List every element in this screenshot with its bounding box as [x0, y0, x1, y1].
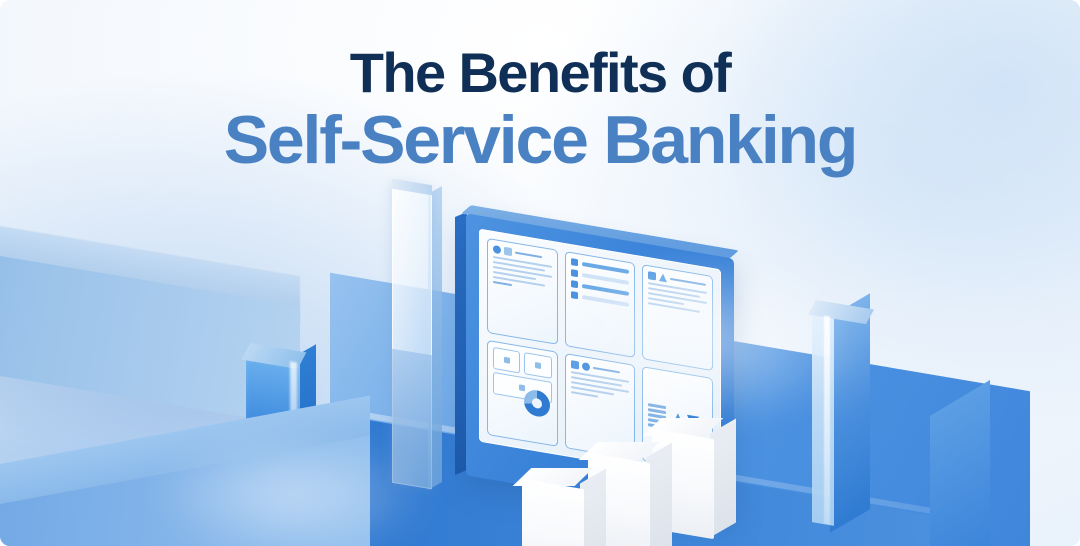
headline-line-2: Self-Service Banking: [0, 105, 1080, 176]
page-title: The Benefits of Self-Service Banking: [0, 44, 1080, 177]
headline-line-1: The Benefits of: [0, 44, 1080, 101]
badge-icon: [504, 247, 512, 256]
text-line: [493, 281, 512, 286]
user-icon: [493, 245, 501, 254]
scene-glow-left: [150, 430, 430, 546]
cube-1-front: [522, 479, 584, 546]
screen-card-analytics[interactable]: [487, 340, 558, 447]
tile-icon: [524, 352, 551, 379]
self-service-banking-banner: The Benefits of Self-Service Banking: [0, 0, 1080, 546]
tile-icon: [493, 347, 520, 374]
screen-card-profile[interactable]: [487, 238, 558, 345]
card-profile-title: [515, 252, 542, 259]
scene-glow-center: [560, 250, 860, 430]
